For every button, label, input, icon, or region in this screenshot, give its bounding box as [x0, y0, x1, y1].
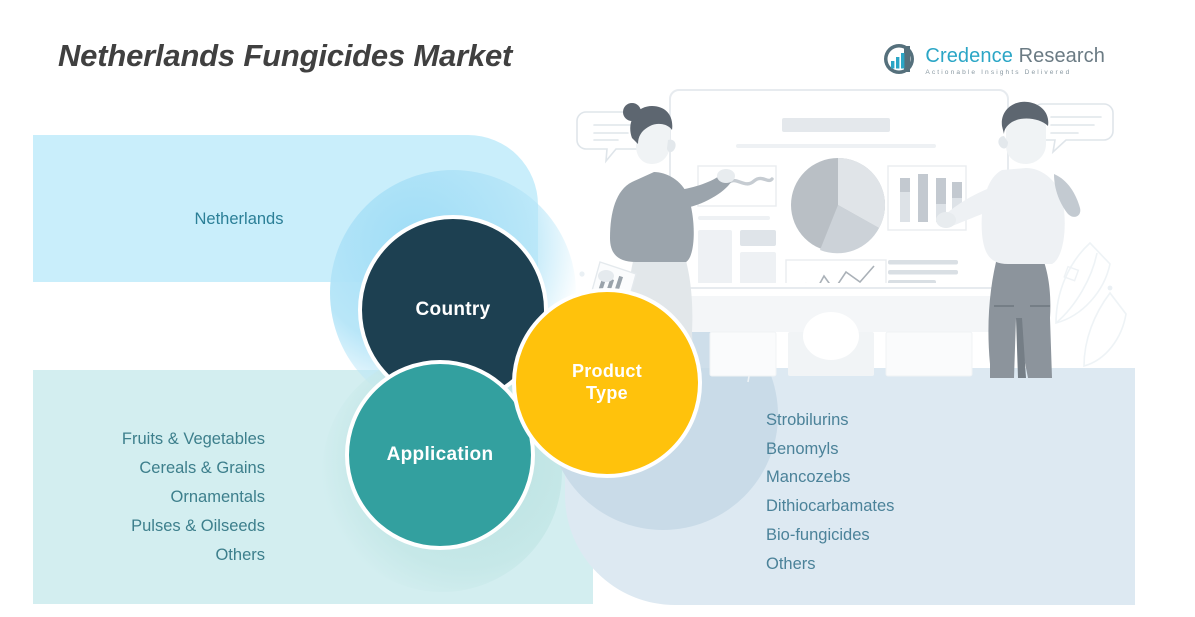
- product-type-circle-label-line1: Product: [572, 361, 642, 381]
- list-item: Strobilurins: [766, 406, 1046, 435]
- logo-tagline: Actionable Insights Delivered: [925, 70, 1105, 77]
- list-item: Others: [766, 550, 1046, 579]
- application-segment-circle: Application: [345, 360, 535, 550]
- country-circle-label: Country: [416, 299, 491, 322]
- country-item-list: Netherlands: [60, 205, 418, 234]
- infographic-canvas: Netherlands Fungicides Market Credence R…: [0, 0, 1195, 617]
- list-item: Benomyls: [766, 435, 1046, 464]
- product-type-item-list: Strobilurins Benomyls Mancozebs Dithioca…: [766, 406, 1046, 578]
- list-item: Netherlands: [60, 205, 418, 234]
- bar-chart-circle-icon: [882, 42, 916, 81]
- text-placeholder-lines: [782, 118, 890, 132]
- product-type-segment-circle: ProductType: [512, 288, 702, 478]
- application-item-list: Fruits & Vegetables Cereals & Grains Orn…: [40, 425, 265, 570]
- list-item: Dithiocarbamates: [766, 492, 1046, 521]
- product-type-circle-label: ProductType: [572, 361, 642, 404]
- list-item: Others: [40, 541, 265, 570]
- logo-word-secondary: Research: [1013, 45, 1105, 67]
- list-item: Bio-fungicides: [766, 521, 1046, 550]
- list-item: Cereals & Grains: [40, 454, 265, 483]
- list-item: Mancozebs: [766, 463, 1046, 492]
- logo-word-primary: Credence: [925, 45, 1013, 67]
- application-circle-label: Application: [387, 444, 494, 467]
- logo-wordmark: Credence Research: [925, 46, 1105, 66]
- list-item: Fruits & Vegetables: [40, 425, 265, 454]
- product-type-circle-label-line2: Type: [586, 383, 628, 403]
- page-title: Netherlands Fungicides Market: [58, 38, 512, 74]
- brand-logo: Credence Research Actionable Insights De…: [882, 42, 1105, 81]
- list-item: Pulses & Oilseeds: [40, 512, 265, 541]
- list-item: Ornamentals: [40, 483, 265, 512]
